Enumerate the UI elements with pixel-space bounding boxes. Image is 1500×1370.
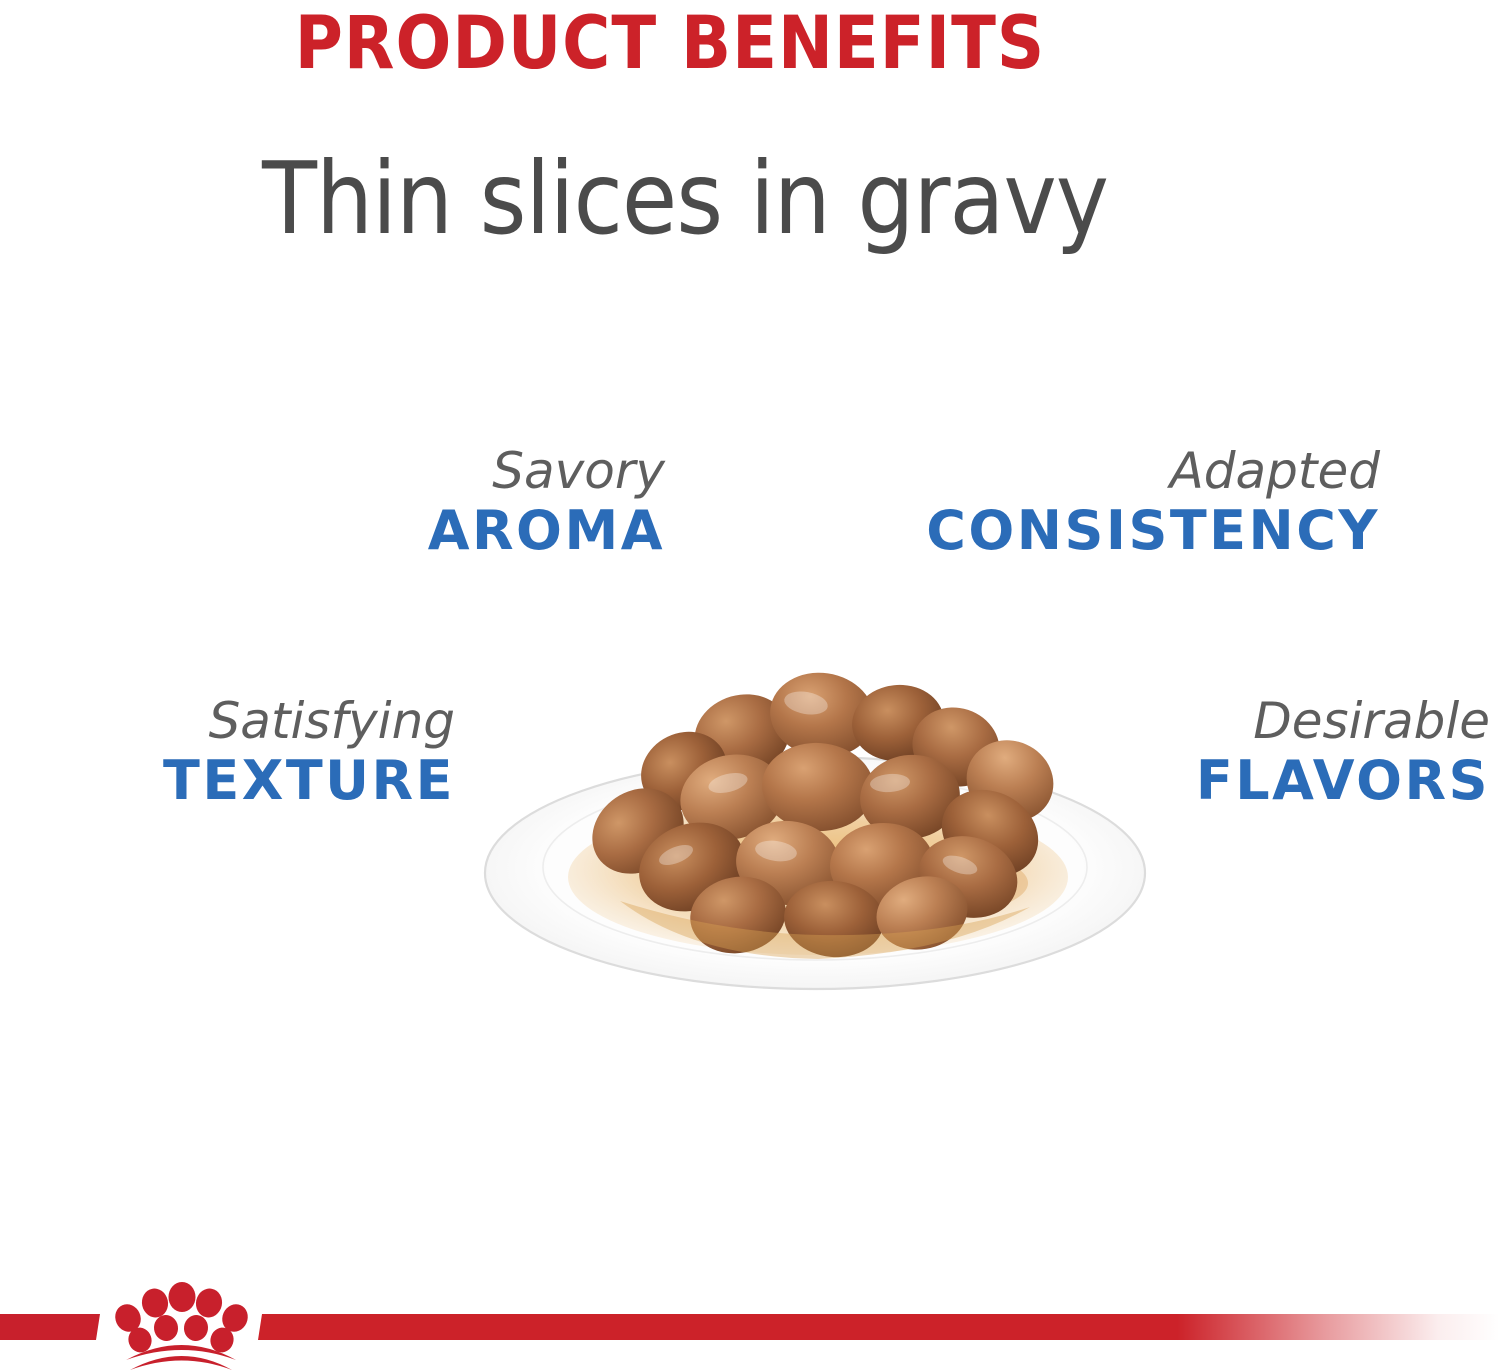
benefit-consistency-label: CONSISTENCY: [880, 500, 1380, 562]
page-title: PRODUCT BENEFITS: [0, 2, 1500, 86]
benefit-aroma-adjective: Savory: [265, 442, 665, 500]
benefit-consistency-adjective: Adapted: [880, 442, 1380, 500]
benefit-aroma: Savory AROMA: [265, 442, 665, 562]
page-subtitle: Thin slices in gravy: [0, 140, 1500, 258]
product-food-image: [470, 615, 1160, 1005]
benefit-texture: Satisfying TEXTURE: [55, 692, 455, 812]
benefit-texture-adjective: Satisfying: [55, 692, 455, 750]
benefit-aroma-label: AROMA: [265, 500, 665, 562]
product-benefits-panel: PRODUCT BENEFITS Thin slices in gravy Sa…: [0, 0, 1500, 1370]
benefit-consistency: Adapted CONSISTENCY: [880, 442, 1380, 562]
benefit-texture-label: TEXTURE: [55, 750, 455, 812]
royal-canin-crown-logo: [100, 1278, 260, 1370]
